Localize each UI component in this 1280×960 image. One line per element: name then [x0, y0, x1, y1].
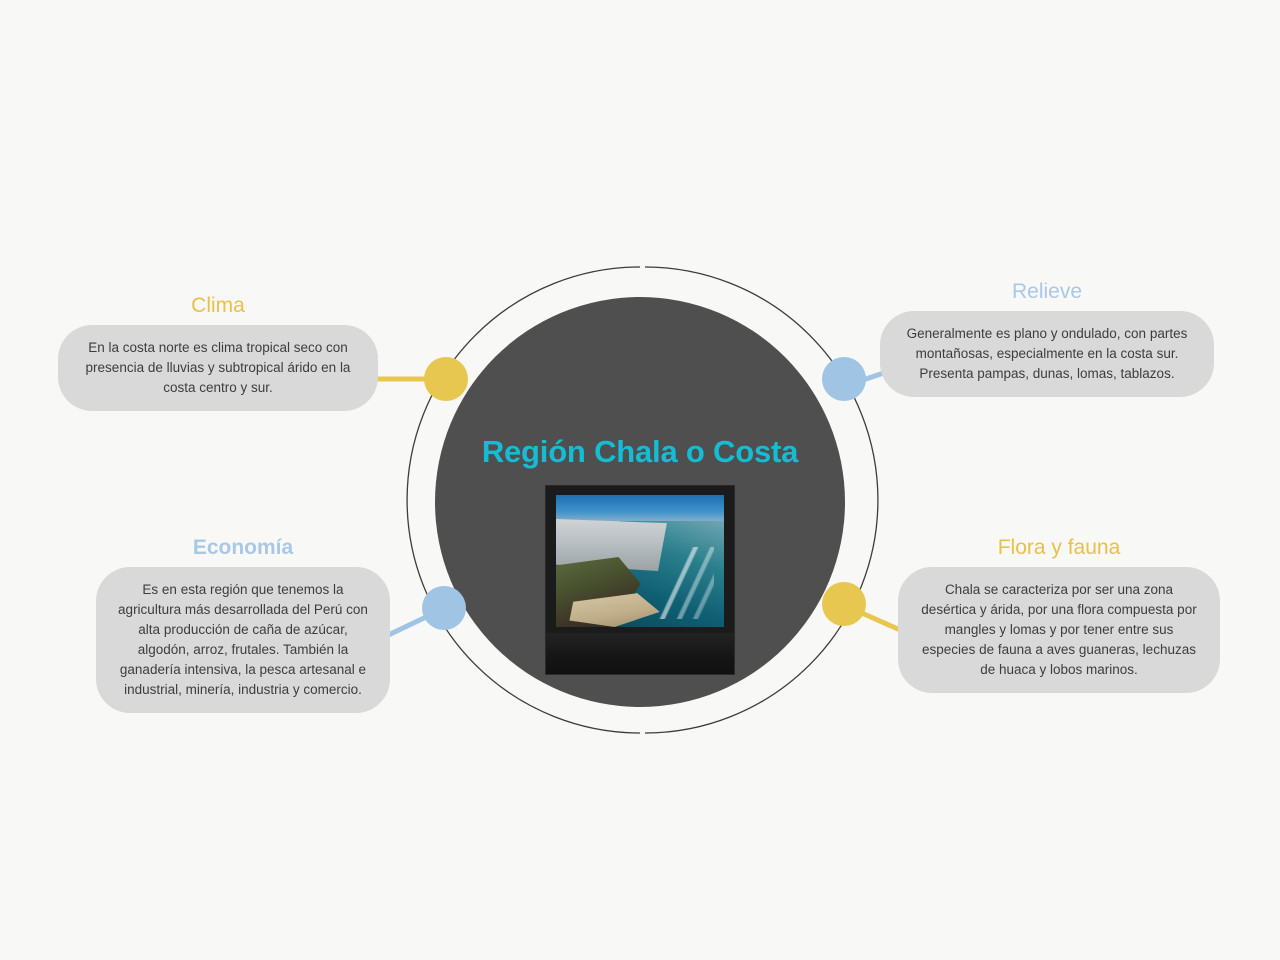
branch-title-economia: Economía	[96, 536, 390, 559]
center-title: Región Chala o Costa	[435, 435, 845, 469]
node-dot-relieve[interactable]	[822, 357, 866, 401]
branch-body-clima: En la costa norte es clima tropical seco…	[58, 325, 378, 411]
branch-relieve: Relieve Generalmente es plano y ondulado…	[880, 280, 1214, 397]
mindmap-canvas: Región Chala o Costa Clima En la costa n…	[0, 0, 1280, 960]
branch-economia: Economía Es en esta región que tenemos l…	[96, 536, 390, 713]
branch-clima: Clima En la costa norte es clima tropica…	[58, 294, 378, 411]
aerial-coastal-city-photo	[556, 495, 724, 627]
node-dot-flora[interactable]	[822, 582, 866, 626]
branch-flora: Flora y fauna Chala se caracteriza por s…	[898, 536, 1220, 693]
branch-title-relieve: Relieve	[880, 280, 1214, 303]
branch-body-economia: Es en esta región que tenemos la agricul…	[96, 567, 390, 713]
branch-title-flora: Flora y fauna	[898, 536, 1220, 559]
photo-frame-base	[546, 633, 734, 674]
center-photo-frame	[546, 486, 734, 674]
branch-body-flora: Chala se caracteriza por ser una zona de…	[898, 567, 1220, 693]
branch-title-clima: Clima	[58, 294, 378, 317]
node-dot-clima[interactable]	[424, 357, 468, 401]
branch-body-relieve: Generalmente es plano y ondulado, con pa…	[880, 311, 1214, 397]
node-dot-economia[interactable]	[422, 586, 466, 630]
photo-surf-layer	[647, 547, 714, 619]
